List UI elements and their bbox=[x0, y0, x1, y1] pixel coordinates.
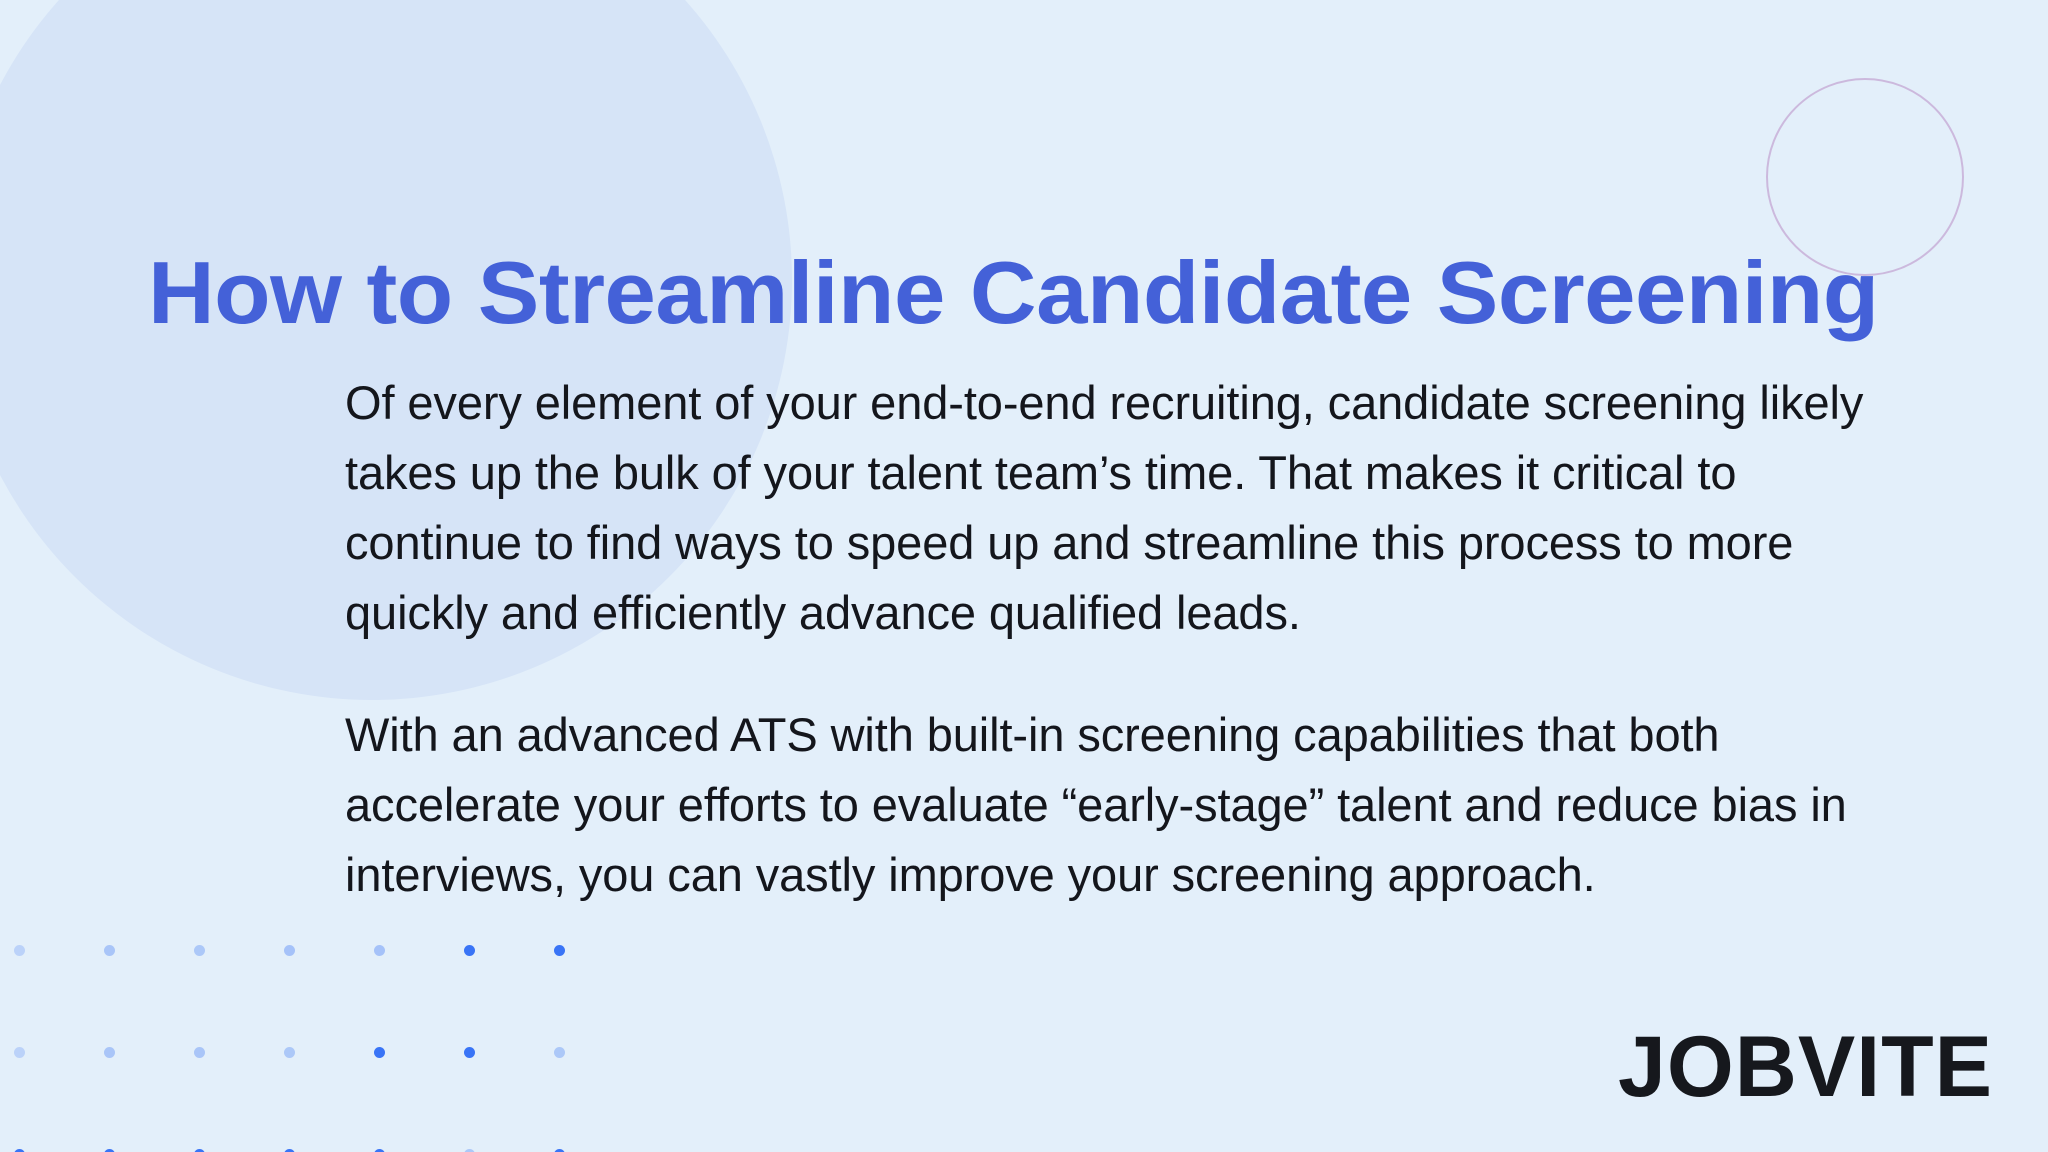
slide-canvas: How to Streamline Candidate Screening Of… bbox=[0, 0, 2048, 1152]
grid-dot bbox=[284, 945, 295, 956]
grid-dot bbox=[374, 1047, 385, 1058]
grid-dot bbox=[194, 1047, 205, 1058]
grid-dot bbox=[14, 945, 25, 956]
grid-dot bbox=[194, 945, 205, 956]
body-copy: Of every element of your end-to-end recr… bbox=[345, 368, 1865, 910]
dot-grid-pattern bbox=[0, 900, 480, 1152]
grid-dot bbox=[464, 945, 475, 956]
grid-dot bbox=[284, 1047, 295, 1058]
grid-dot bbox=[554, 1047, 565, 1058]
grid-dot bbox=[374, 945, 385, 956]
jobvite-logo: JOBVITE bbox=[1618, 1024, 1993, 1110]
grid-dot bbox=[464, 1047, 475, 1058]
paragraph-2: With an advanced ATS with built-in scree… bbox=[345, 700, 1865, 910]
grid-dot bbox=[554, 945, 565, 956]
grid-dot bbox=[104, 945, 115, 956]
grid-dot bbox=[104, 1047, 115, 1058]
page-title: How to Streamline Candidate Screening bbox=[148, 249, 1879, 337]
grid-dot bbox=[14, 1047, 25, 1058]
paragraph-1: Of every element of your end-to-end recr… bbox=[345, 368, 1865, 648]
